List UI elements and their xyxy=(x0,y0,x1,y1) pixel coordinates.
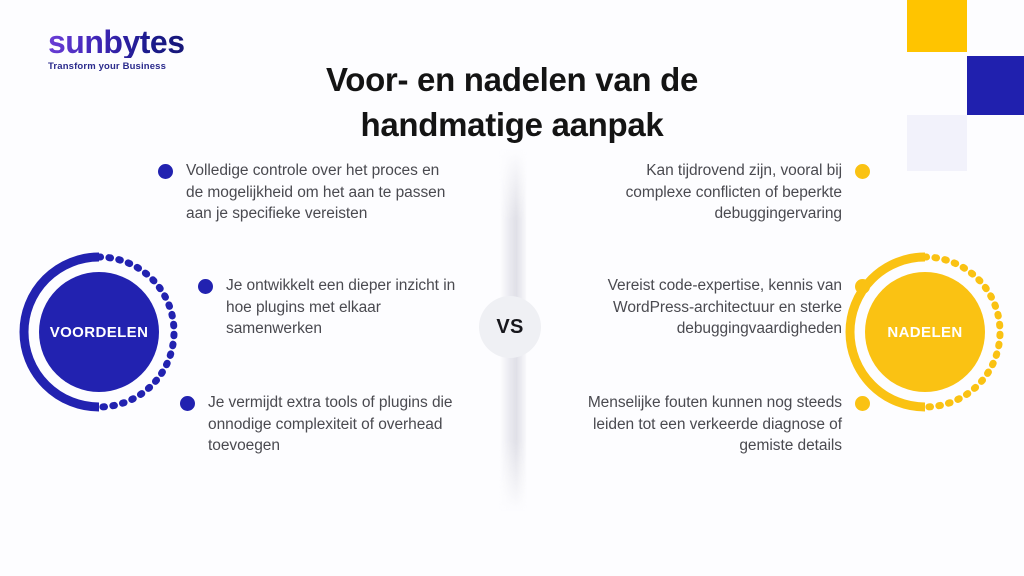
nadelen-label: NADELEN xyxy=(865,272,985,392)
list-item: Volledige controle over het proces en de… xyxy=(158,160,458,225)
logo-wordmark: sunbytes xyxy=(48,26,218,58)
list-item-text: Menselijke fouten kunnen nog steeds leid… xyxy=(578,392,842,457)
list-item-text: Volledige controle over het proces en de… xyxy=(186,160,458,225)
list-item: Menselijke fouten kunnen nog steeds leid… xyxy=(578,392,870,457)
list-item-text: Je ontwikkelt een dieper inzicht in hoe … xyxy=(226,275,458,340)
bullet-dot-icon xyxy=(855,279,870,294)
list-item-text: Kan tijdrovend zijn, vooral bij complexe… xyxy=(578,160,842,225)
decorative-square-blue xyxy=(967,56,1024,115)
list-item: Je ontwikkelt een dieper inzicht in hoe … xyxy=(198,275,458,340)
list-item-text: Je vermijdt extra tools of plugins die o… xyxy=(208,392,458,457)
list-item-text: Vereist code-expertise, kennis van WordP… xyxy=(578,275,842,340)
logo-tagline: Transform your Business xyxy=(48,61,218,72)
decorative-square-yellow xyxy=(907,0,967,52)
list-item: Je vermijdt extra tools of plugins die o… xyxy=(180,392,458,457)
voordelen-label: VOORDELEN xyxy=(39,272,159,392)
infographic-slide: sunbytes Transform your Business Voor- e… xyxy=(0,0,1024,576)
decorative-square-lavender xyxy=(907,115,967,171)
list-item: Vereist code-expertise, kennis van WordP… xyxy=(578,275,870,340)
vs-badge: VS xyxy=(479,296,541,358)
voordelen-circle: VOORDELEN xyxy=(16,249,182,415)
bullet-dot-icon xyxy=(855,396,870,411)
bullet-dot-icon xyxy=(198,279,213,294)
brand-logo: sunbytes Transform your Business xyxy=(48,26,218,76)
bullet-dot-icon xyxy=(855,164,870,179)
bullet-dot-icon xyxy=(158,164,173,179)
bullet-dot-icon xyxy=(180,396,195,411)
page-title: Voor- en nadelen van de handmatige aanpa… xyxy=(232,57,792,147)
list-item: Kan tijdrovend zijn, vooral bij complexe… xyxy=(578,160,870,225)
